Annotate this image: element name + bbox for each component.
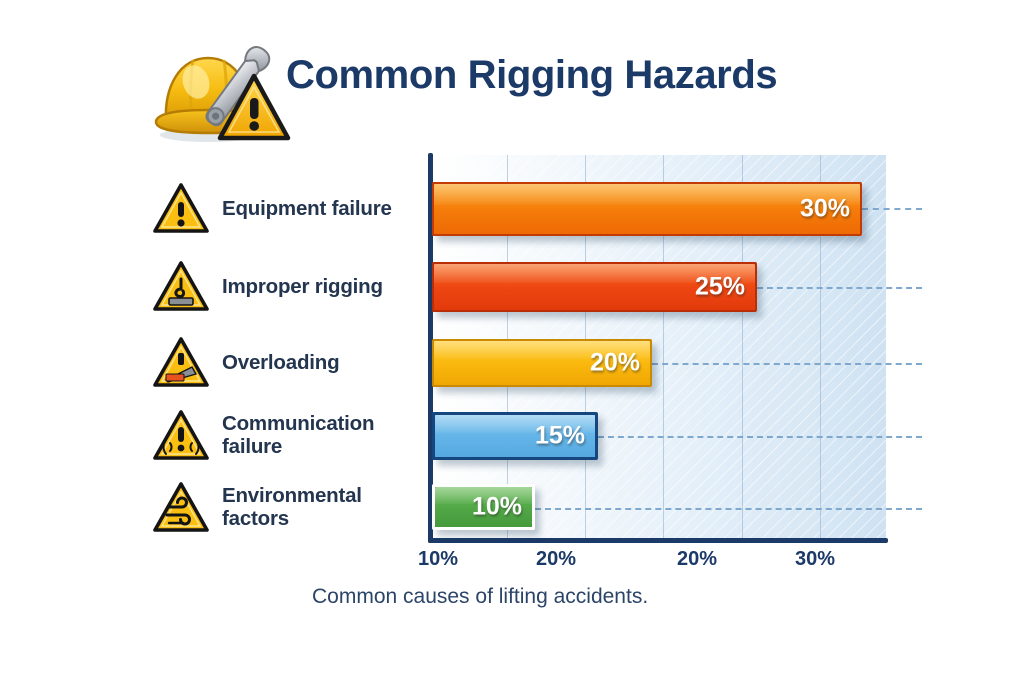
category-communication-failure[interactable]: Communication failure — [152, 406, 430, 466]
bar-improper-rigging[interactable]: 25% — [432, 262, 757, 312]
category-equipment-failure[interactable]: Equipment failure — [152, 182, 430, 236]
bar-row: 25% — [432, 262, 757, 312]
leader-line — [757, 287, 922, 289]
warning-exclamation-icon — [152, 182, 210, 236]
leader-line — [535, 508, 922, 510]
bar-row: 30% — [432, 182, 862, 236]
page-title: Common Rigging Hazards — [286, 44, 926, 106]
category-improper-rigging[interactable]: Improper rigging — [152, 262, 430, 312]
leader-line — [862, 208, 922, 210]
chart-caption: Common causes of lifting accidents. — [312, 585, 812, 609]
category-label: Improper rigging — [222, 276, 383, 299]
bar-sheen — [434, 184, 860, 205]
xtick-label: 30% — [770, 548, 860, 571]
category-label: Environmental factors — [222, 485, 362, 531]
warning-wind-icon — [152, 481, 210, 535]
bar-row: 10% — [432, 484, 535, 530]
bar-equipment-failure[interactable]: 30% — [432, 182, 862, 236]
category-label: Communication failure — [222, 413, 374, 459]
bar-value-label: 20% — [590, 349, 640, 378]
leader-line — [598, 436, 922, 438]
x-axis-line — [428, 538, 888, 543]
warning-hook-icon — [152, 260, 210, 314]
xtick-label: 10% — [393, 548, 483, 571]
bar-environmental-factors[interactable]: 10% — [432, 484, 535, 530]
bar-row: 15% — [432, 412, 598, 460]
bar-value-label: 15% — [535, 422, 585, 451]
bar-row: 20% — [432, 339, 652, 387]
bar-communication-failure[interactable]: 15% — [432, 412, 598, 460]
bar-overloading[interactable]: 20% — [432, 339, 652, 387]
bar-value-label: 10% — [472, 493, 522, 522]
category-label: Equipment failure — [222, 198, 392, 221]
category-overloading[interactable]: Overloading — [152, 339, 430, 387]
infographic-canvas: Common Rigging Hazards 30% 25% 20% — [0, 0, 1024, 683]
category-label: Overloading — [222, 352, 339, 375]
bar-value-label: 30% — [800, 195, 850, 224]
warning-signal-icon — [152, 409, 210, 463]
bar-value-label: 25% — [695, 273, 745, 302]
warning-overload-icon — [152, 336, 210, 390]
header: Common Rigging Hazards — [0, 0, 1024, 150]
hardhat-wrench-warning-icon — [146, 34, 302, 150]
xtick-label: 20% — [511, 548, 601, 571]
xtick-label: 20% — [652, 548, 742, 571]
leader-line — [652, 363, 922, 365]
category-environmental-factors[interactable]: Environmental factors — [152, 478, 430, 538]
